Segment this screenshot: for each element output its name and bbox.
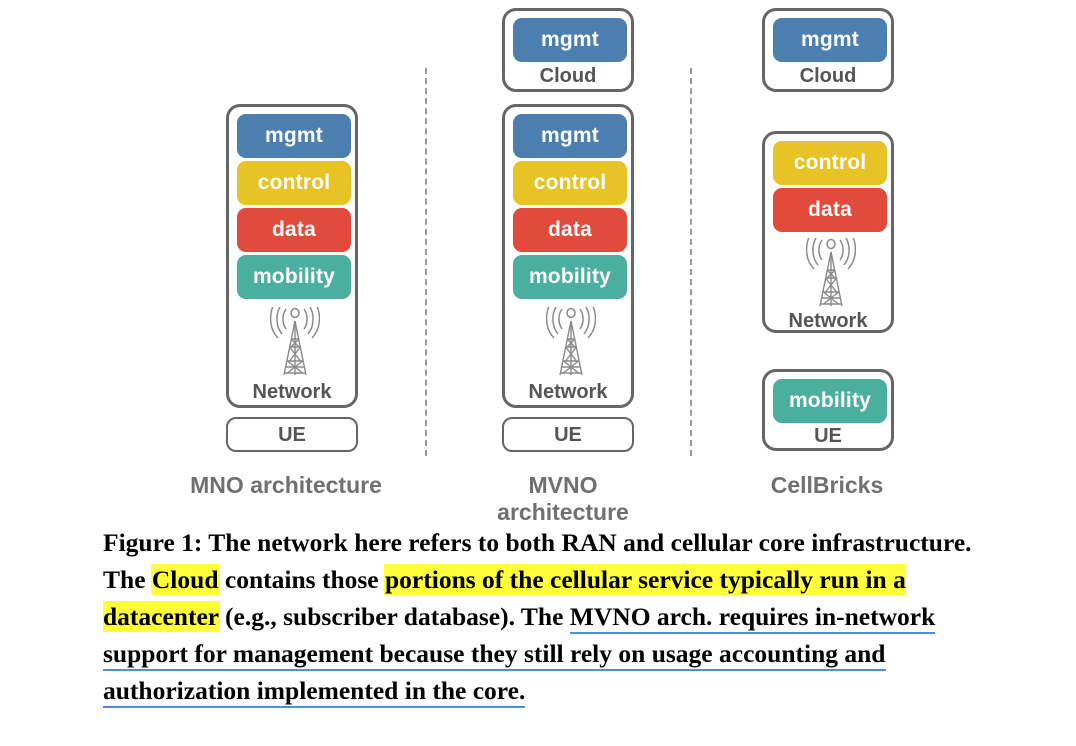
network-label: Network (505, 381, 631, 404)
cell-tower-icon (806, 238, 856, 315)
ue-label: UE (765, 425, 891, 448)
block-mobility: mobility (237, 255, 351, 299)
block-control: control (237, 161, 351, 205)
figure-diagram: mgmt control data mobility (0, 0, 1076, 512)
cellbricks-ue-box: mobility UE (762, 369, 894, 451)
block-data: data (773, 188, 887, 232)
block-mgmt: mgmt (773, 18, 887, 62)
cloud-label: Cloud (765, 65, 891, 88)
column-mvno: mgmt Cloud mgmt control data mobility (463, 0, 663, 512)
ue-label: UE (228, 424, 356, 447)
figure-caption: Figure 1: The network here refers to bot… (103, 524, 995, 709)
ue-label: UE (504, 424, 632, 447)
caption-segment-2: contains those (219, 565, 385, 594)
block-data: data (237, 208, 351, 252)
column-divider-1 (425, 68, 427, 456)
mvno-cloud-box: mgmt Cloud (502, 8, 634, 92)
mvno-ue-box: UE (502, 417, 634, 452)
network-label: Network (229, 381, 355, 404)
network-label: Network (765, 310, 891, 333)
cell-tower-icon (270, 307, 320, 384)
block-mgmt: mgmt (513, 18, 627, 62)
cellbricks-network-box: control data (762, 131, 894, 333)
cellbricks-cloud-box: mgmt Cloud (762, 8, 894, 92)
block-mobility: mobility (773, 379, 887, 423)
block-control: control (773, 141, 887, 185)
block-mobility: mobility (513, 255, 627, 299)
mno-ue-box: UE (226, 417, 358, 452)
cloud-label: Cloud (505, 65, 631, 88)
block-mgmt: mgmt (513, 114, 627, 158)
column-title-mvno: MVNO architecture (463, 472, 663, 526)
block-data: data (513, 208, 627, 252)
block-mgmt: mgmt (237, 114, 351, 158)
caption-segment-3: (e.g., subscriber database). The (219, 602, 570, 631)
block-control: control (513, 161, 627, 205)
mno-network-box: mgmt control data mobility (226, 104, 358, 408)
caption-highlight-cloud: Cloud (152, 565, 219, 594)
column-cellbricks: mgmt Cloud control data (727, 0, 927, 512)
column-title-cellbricks: CellBricks (727, 472, 927, 499)
cell-tower-icon (546, 307, 596, 384)
column-mno: mgmt control data mobility (186, 0, 386, 512)
column-title-mno: MNO architecture (186, 472, 386, 499)
mvno-network-box: mgmt control data mobility (502, 104, 634, 408)
column-divider-2 (690, 68, 692, 456)
